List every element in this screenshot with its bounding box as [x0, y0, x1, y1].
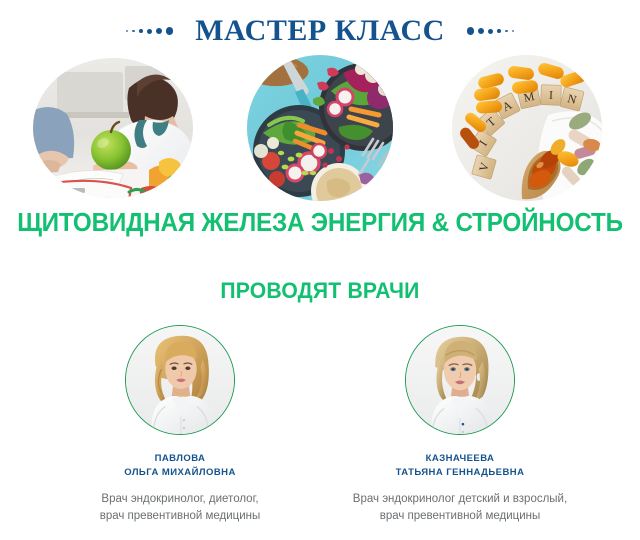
doctor-pavlova-portrait	[125, 325, 235, 435]
doctor-description-line-2: врач превентивной медицины	[353, 508, 567, 525]
doctor-kaznacheeva-portrait	[405, 325, 515, 435]
doctors-section: ПАВЛОВА ОЛЬГА МИХАЙЛОВНА Врач эндокринол…	[0, 325, 640, 540]
dot-decoration-left-icon	[126, 24, 173, 38]
doctor-description-line-2: врач превентивной медицины	[100, 508, 261, 525]
doctor-name: ПАВЛОВА ОЛЬГА МИХАЙЛОВНА	[124, 452, 236, 480]
doctor-description: Врач эндокринолог, диетолог, врач превен…	[100, 491, 261, 525]
doctor-name: КАЗНАЧЕЕВА ТАТЬЯНА ГЕННАДЬЕВНА	[396, 452, 525, 480]
page-headline-main: ЩИТОВИДНАЯ ЖЕЛЕЗА ЭНЕРГИЯ & СТРОЙНОСТЬ	[16, 209, 624, 238]
doctor-surname: ПАВЛОВА	[124, 452, 236, 466]
doctor-card: КАЗНАЧЕЕВА ТАТЬЯНА ГЕННАДЬЕВНА Врач эндо…	[330, 325, 590, 540]
title-row: МАСТЕР КЛАСС	[0, 10, 640, 52]
vitamin-capsules-photo: V I T A M	[452, 55, 602, 201]
healthy-salad-bowls-photo	[247, 55, 393, 201]
doctor-given-name: ОЛЬГА МИХАЙЛОВНА	[124, 466, 236, 480]
doctor-consultation-apple-photo	[33, 58, 193, 198]
masterclass-promo-page: МАСТЕР КЛАСС	[0, 0, 640, 540]
doctor-description: Врач эндокринолог детский и взрослый, вр…	[353, 491, 567, 525]
doctor-description-line-1: Врач эндокринолог детский и взрослый,	[353, 491, 567, 508]
doctor-description-line-1: Врач эндокринолог, диетолог,	[100, 491, 261, 508]
page-title: МАСТЕР КЛАСС	[195, 16, 445, 46]
doctor-surname: КАЗНАЧЕЕВА	[396, 452, 525, 466]
dot-decoration-right-icon	[467, 24, 514, 38]
page-headline-sub: ПРОВОДЯТ ВРАЧИ	[13, 278, 627, 304]
photo-strip: V I T A M	[0, 55, 640, 200]
svg-text:I: I	[549, 88, 553, 102]
doctor-given-name: ТАТЬЯНА ГЕННАДЬЕВНА	[396, 466, 525, 480]
doctor-card: ПАВЛОВА ОЛЬГА МИХАЙЛОВНА Врач эндокринол…	[50, 325, 310, 540]
